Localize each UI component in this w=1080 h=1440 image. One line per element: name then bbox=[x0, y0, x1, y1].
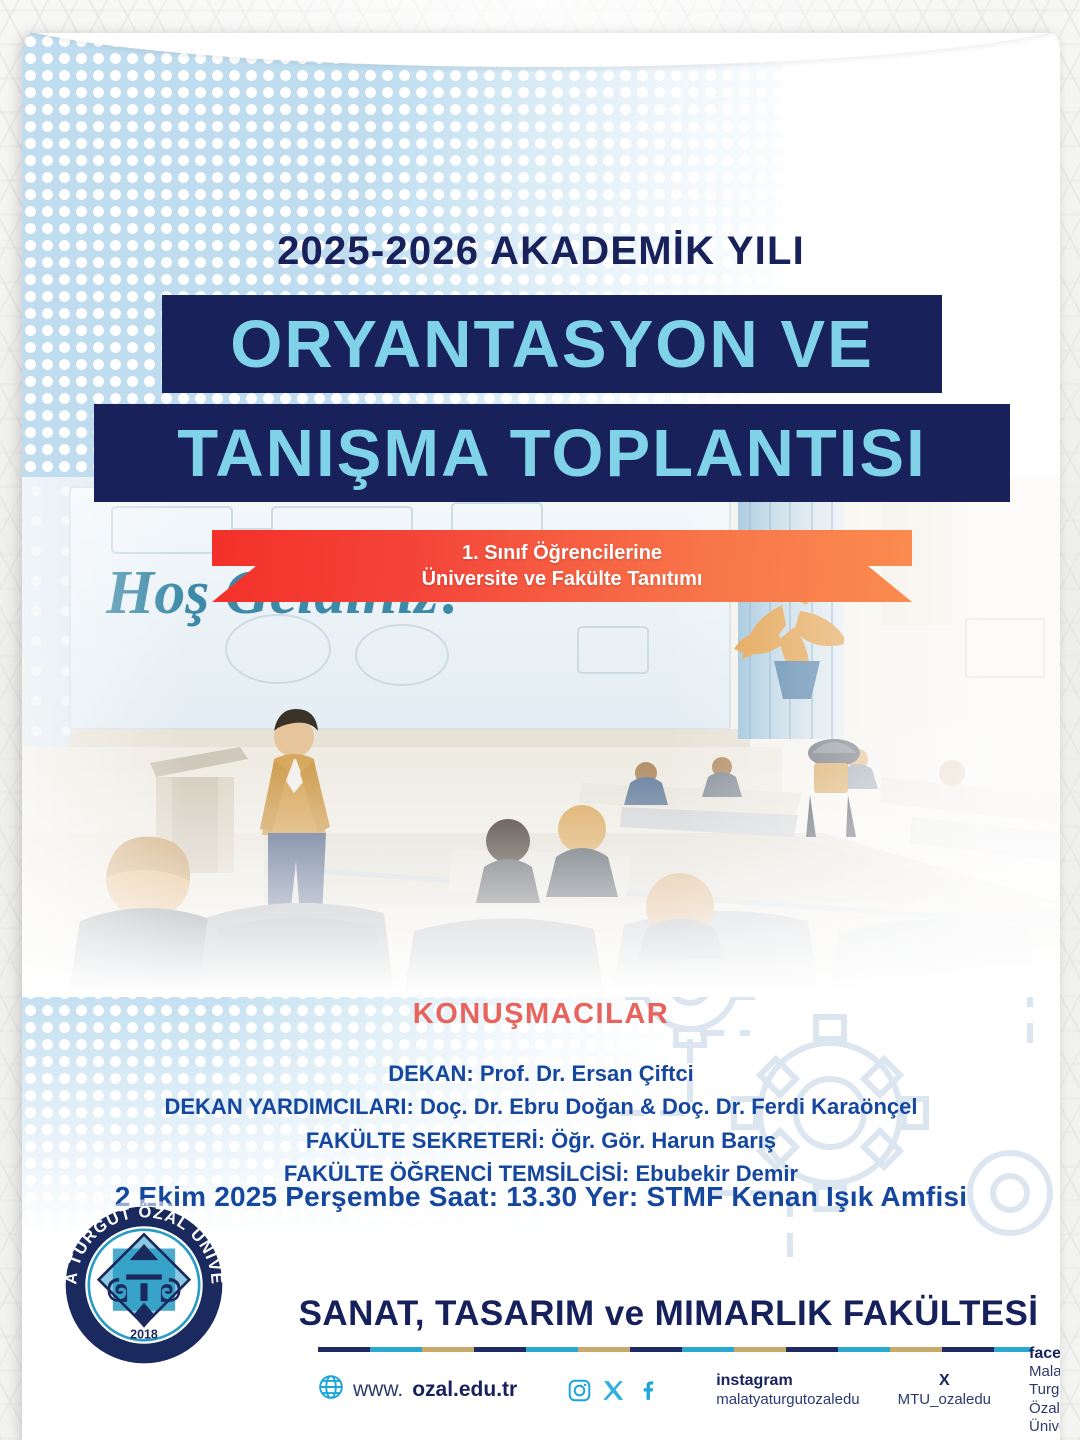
main-title-line-1: ORYANTASYON VE bbox=[162, 295, 942, 393]
speakers-section: KONUŞMACILAR DEKAN: Prof. Dr. Ersan Çift… bbox=[22, 998, 1060, 1191]
footer-social-bar: www.ozal.edu.tr bbox=[318, 1362, 1040, 1418]
university-logo: MALATYA TURGUT ÖZAL ÜNİVERSİTESİ bbox=[55, 1196, 233, 1374]
ribbon-line-1: 1. Sınıf Öğrencilerine bbox=[462, 540, 662, 566]
x-platform-label: X bbox=[939, 1371, 950, 1391]
footer-divider-rule bbox=[318, 1347, 1032, 1352]
main-title-line-2: TANIŞMA TOPLANTISI bbox=[94, 404, 1010, 502]
faculty-name: SANAT, TASARIM ve MIMARLIK FAKÜLTESİ bbox=[287, 1294, 1050, 1334]
instagram-handle: malatyaturgutozaledu bbox=[716, 1391, 859, 1409]
logo-year: 2018 bbox=[130, 1327, 158, 1341]
website-prefix: www. bbox=[353, 1378, 403, 1402]
speaker-line: DEKAN YARDIMCILARI: Doç. Dr. Ebru Doğan … bbox=[22, 1090, 1060, 1123]
poster-footer: MALATYA TURGUT ÖZAL ÜNİVERSİTESİ bbox=[22, 1225, 1060, 1440]
website-domain: ozal.edu.tr bbox=[412, 1378, 517, 1402]
x-twitter-icon[interactable] bbox=[601, 1378, 626, 1403]
globe-icon bbox=[318, 1374, 344, 1406]
ribbon-line-2: Üniversite ve Fakülte Tanıtımı bbox=[422, 566, 703, 592]
instagram-platform-label: instagram bbox=[716, 1371, 859, 1391]
speaker-line: DEKAN: Prof. Dr. Ersan Çiftci bbox=[22, 1057, 1060, 1090]
website-link[interactable]: www.ozal.edu.tr bbox=[318, 1374, 517, 1406]
social-icons-group bbox=[567, 1378, 660, 1403]
poster-sheet: Hoş Geldiniz! bbox=[22, 33, 1060, 1440]
social-handle-x[interactable]: X MTU_ozaledu bbox=[898, 1371, 991, 1409]
social-handle-facebook[interactable]: facebook Malatya Turgut Özal Üniversites… bbox=[1029, 1344, 1060, 1437]
x-handle: MTU_ozaledu bbox=[898, 1391, 991, 1409]
social-handle-instagram[interactable]: instagram malatyaturgutozaledu bbox=[716, 1371, 859, 1409]
facebook-handle: Malatya Turgut Özal Üniversitesi bbox=[1029, 1363, 1060, 1436]
speakers-heading: KONUŞMACILAR bbox=[22, 998, 1060, 1031]
subtitle-ribbon: 1. Sınıf Öğrencilerine Üniversite ve Fak… bbox=[212, 530, 912, 602]
speaker-line: FAKÜLTE SEKRETERİ: Öğr. Gör. Harun Barış bbox=[22, 1124, 1060, 1157]
facebook-platform-label: facebook bbox=[1029, 1344, 1060, 1364]
facebook-icon[interactable] bbox=[635, 1378, 660, 1403]
instagram-icon[interactable] bbox=[567, 1378, 592, 1403]
academic-year-kicker: 2025-2026 AKADEMİK YILI bbox=[22, 229, 1060, 274]
